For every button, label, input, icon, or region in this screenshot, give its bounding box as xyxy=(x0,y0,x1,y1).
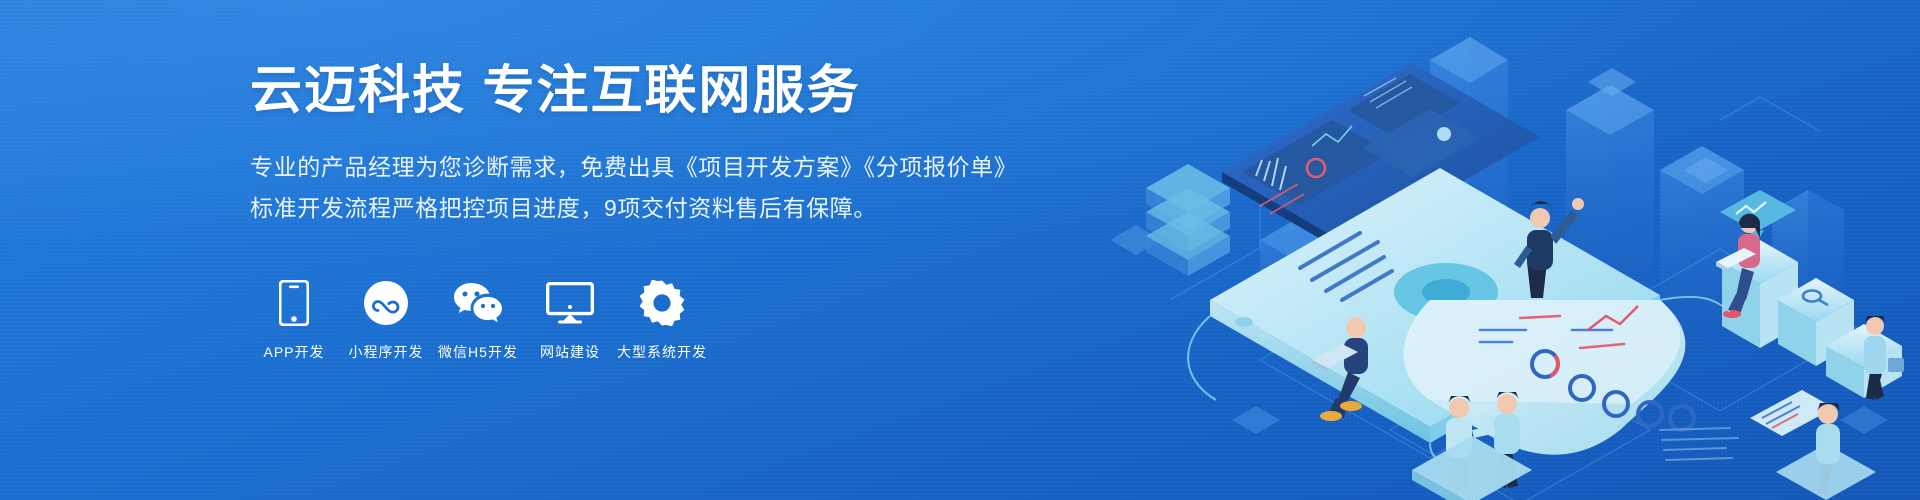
hero-copy: 云迈科技 专注互联网服务 专业的产品经理为您诊断需求，免费出具《项目开发方案》《… xyxy=(250,62,1017,229)
service-item-mini-program[interactable]: 小程序开发 xyxy=(340,278,432,362)
mini-program-icon xyxy=(363,278,409,328)
hero-headline: 云迈科技 专注互联网服务 xyxy=(250,62,1017,122)
monitor-icon xyxy=(546,278,594,328)
service-label: APP开发 xyxy=(263,342,324,362)
service-label: 小程序开发 xyxy=(349,342,424,362)
service-list: APP开发 小程序开发 微信 xyxy=(248,278,708,362)
wechat-icon xyxy=(452,278,504,328)
hero-banner: 云迈科技 专注互联网服务 专业的产品经理为您诊断需求，免费出具《项目开发方案》《… xyxy=(0,0,1920,500)
service-label: 大型系统开发 xyxy=(617,342,707,362)
isometric-illustration xyxy=(960,0,1920,500)
service-item-wechat-h5[interactable]: 微信H5开发 xyxy=(432,278,524,362)
mobile-phone-icon xyxy=(279,278,309,328)
service-label: 微信H5开发 xyxy=(438,342,518,362)
service-item-app[interactable]: APP开发 xyxy=(248,278,340,362)
service-item-large-system[interactable]: 大型系统开发 xyxy=(616,278,708,362)
hero-subtitle-line-2: 标准开发流程严格把控项目进度，9项交付资料售后有保障。 xyxy=(250,189,1017,229)
service-label: 网站建设 xyxy=(540,342,600,362)
hero-subtitle-line-1: 专业的产品经理为您诊断需求，免费出具《项目开发方案》《分项报价单》 xyxy=(250,148,1017,188)
service-item-website[interactable]: 网站建设 xyxy=(524,278,616,362)
gear-icon xyxy=(639,278,685,328)
